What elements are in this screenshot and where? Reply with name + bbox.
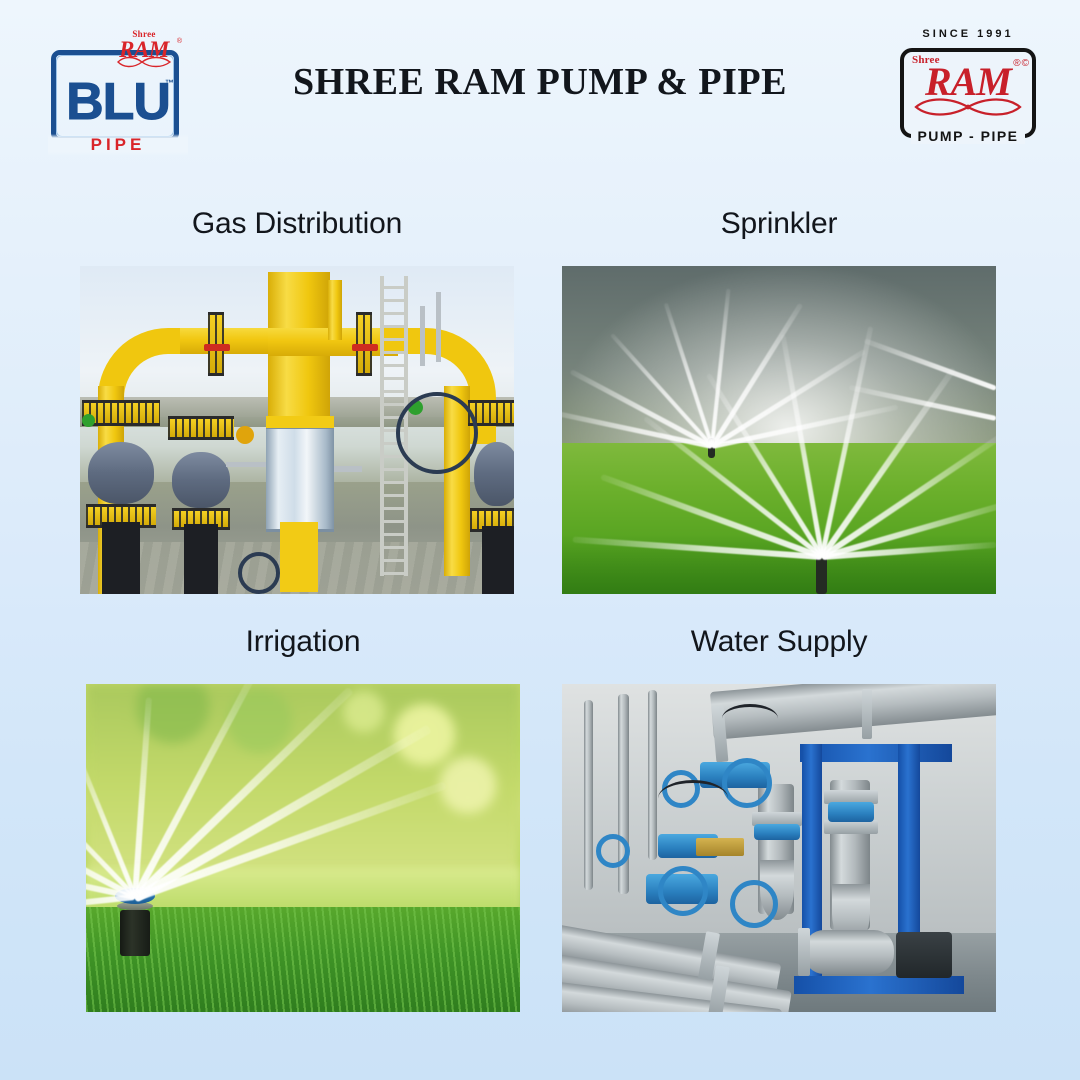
blu-logo-sub-word: PIPE — [48, 134, 188, 156]
application-card-water-supply: Water Supply — [562, 622, 996, 1012]
application-card-irrigation: Irrigation — [86, 622, 520, 1012]
ram-logo-footer-text: PUMP - PIPE — [894, 128, 1042, 146]
applications-grid: Gas Distribution — [0, 172, 1080, 1080]
page-title: SHREE RAM PUMP & PIPE — [210, 58, 870, 106]
application-photo-sprinkler — [562, 266, 996, 594]
application-card-sprinkler: Sprinkler — [562, 204, 996, 594]
poster-canvas: Shree RAM ® BLU ™ PIPE SHREE RAM PUMP & … — [0, 0, 1080, 1080]
blu-pipe-logo: Shree RAM ® BLU ™ PIPE — [48, 32, 188, 152]
poster-header: Shree RAM ® BLU ™ PIPE SHREE RAM PUMP & … — [0, 0, 1080, 172]
blu-logo-shree-ram-mark: Shree RAM ® — [104, 30, 184, 72]
ram-swirl-icon — [104, 56, 184, 72]
application-label-water-supply: Water Supply — [562, 622, 996, 662]
trademark-icon: ™ — [165, 78, 174, 88]
application-photo-wrap-irrigation — [86, 684, 520, 1012]
application-photo-wrap-gas — [80, 266, 514, 594]
registered-mark-icon: ® — [177, 38, 182, 45]
application-label-irrigation: Irrigation — [86, 622, 520, 662]
application-photo-water-supply — [562, 684, 996, 1012]
application-photo-wrap-sprinkler — [562, 266, 996, 594]
ram-logo-since-text: SINCE 1991 — [894, 28, 1042, 40]
application-label-sprinkler: Sprinkler — [562, 204, 996, 244]
application-label-gas-distribution: Gas Distribution — [80, 204, 514, 244]
registered-copyright-icon: ®© — [1013, 58, 1030, 69]
application-photo-wrap-water-supply — [562, 684, 996, 1012]
shree-ram-logo: SINCE 1991 Shree RAM ®© PUMP - PIPE — [894, 28, 1042, 150]
ram-logo-swirl-icon — [910, 96, 1026, 118]
application-card-gas-distribution: Gas Distribution — [80, 204, 514, 594]
application-photo-irrigation — [86, 684, 520, 1012]
application-photo-gas-distribution — [80, 266, 514, 594]
